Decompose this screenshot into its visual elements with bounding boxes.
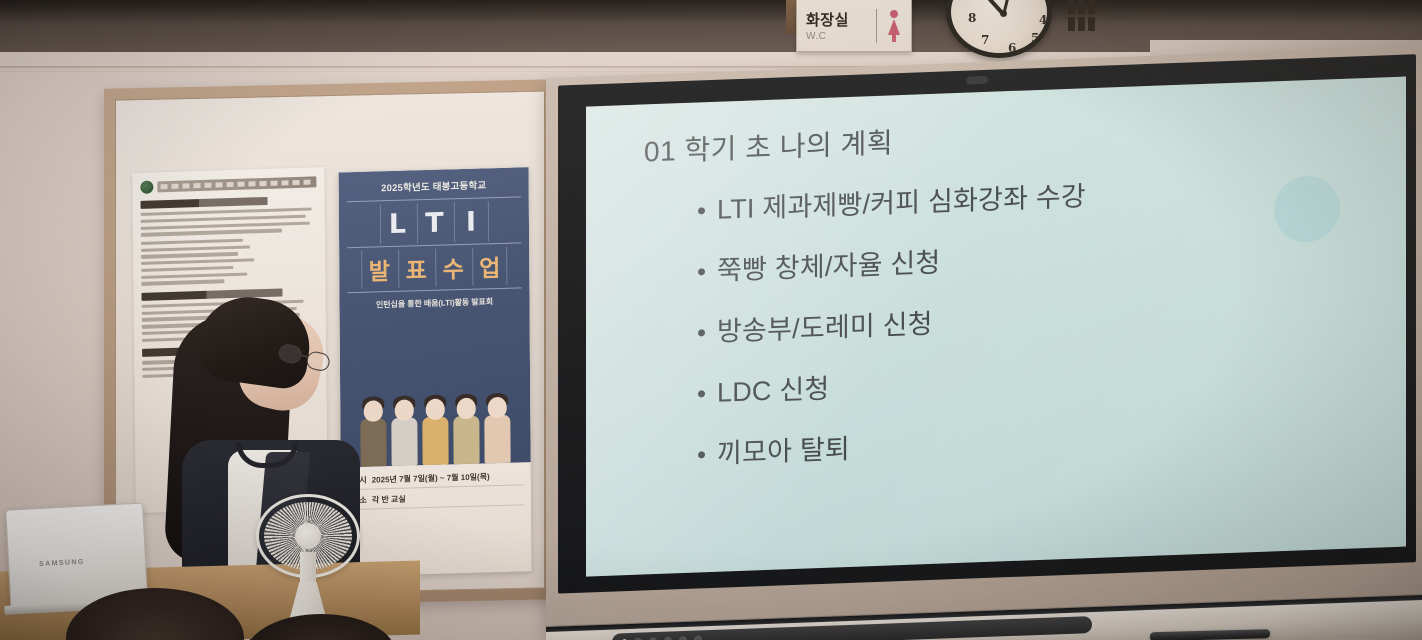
notice-section [141,195,318,285]
laptop-brand-label: SAMSUNG [39,559,85,568]
notice-header [140,175,316,194]
clock-numeral: 6 [1008,41,1016,55]
bullet-dot-icon [698,390,705,397]
poster-korean-letter: 업 [472,247,507,286]
poster-korean-letter: 발 [361,250,396,289]
clock-numeral: 7 [981,33,989,47]
restroom-sign-english-label: W.C [806,31,876,42]
poster-korean-title-row: 발 표 수 업 [347,242,521,289]
slide-bullet-item: LDC 신청 [698,353,1366,410]
bullet-dot-icon [698,207,705,214]
bullet-text: 방송부/도레미 신청 [717,308,933,349]
notice-title-bar [157,176,316,192]
clock-numeral: 4 [1039,13,1047,27]
clock-numeral: 5 [1031,31,1039,45]
fan-hub [295,523,321,549]
slide-bullet-item: LTI 제과제빵/커피 심화강좌 수강 [698,170,1366,227]
display-bezel: 01 학기 초 나의 계획 LTI 제과제빵/커피 심화강좌 수강 쭉빵 창체/… [558,54,1416,593]
poster-info-value: 2025년 7월 7일(월) ~ 7월 10일(목) [372,471,490,485]
slide-bullet-item: 끼모아 탈퇴 [698,414,1366,471]
notice-bullet-icon [140,180,153,193]
bullet-text: 끼모아 탈퇴 [717,433,850,471]
poster-letter: I [453,201,488,242]
poster-latin-title-row: L T I [347,200,521,245]
poster-title-grid: L T I 발 표 수 업 [347,196,522,293]
ceiling-vent-grille [1068,0,1114,34]
camera-bar [966,76,988,85]
slide-bullet-list: LTI 제과제빵/커피 심화강좌 수강 쭉빵 창체/자율 신청 방송부/도레미 … [698,170,1366,499]
bullet-dot-icon [698,268,705,275]
poster-letter: T [416,202,451,243]
interactive-whiteboard[interactable]: 01 학기 초 나의 계획 LTI 제과제빵/커피 심화강좌 수강 쭉빵 창체/… [546,46,1422,640]
bullet-text: LTI 제과제빵/커피 심화강좌 수강 [717,180,1086,226]
presentation-screen[interactable]: 01 학기 초 나의 계획 LTI 제과제빵/커피 심화강좌 수강 쭉빵 창체/… [586,77,1406,577]
stylus-pen[interactable] [1150,629,1270,640]
restroom-sign-korean-label: 화장실 [806,9,876,30]
control-button[interactable] [664,636,672,640]
slide-bullet-item: 방송부/도레미 신청 [698,292,1366,349]
clock-pivot [1000,10,1007,17]
control-button[interactable] [649,636,657,640]
bullet-text: LDC 신청 [717,372,829,409]
control-button[interactable] [679,635,687,640]
poster-korean-letter: 수 [435,248,470,287]
slide-bullet-item: 쭉빵 창체/자율 신청 [698,231,1366,288]
clock-numeral: 8 [968,11,976,25]
ceiling-shadow [0,0,1422,24]
poster-school-line: 2025학년도 태봉고등학교 [347,176,521,195]
slide-title: 01 학기 초 나의 계획 [644,121,893,170]
bullet-dot-icon [698,451,705,458]
control-button[interactable] [694,635,702,640]
display-wall-frame: 01 학기 초 나의 계획 LTI 제과제빵/커피 심화강좌 수강 쭉빵 창체/… [546,46,1422,638]
classroom-scene: 화장실 W.C 4 5 6 7 8 [0,0,1422,640]
poster-korean-letter: 표 [398,249,433,288]
bullet-text: 쭉빵 창체/자율 신청 [717,247,940,288]
bullet-dot-icon [698,329,705,336]
poster-letter: L [379,203,414,244]
restroom-sign: 화장실 W.C [796,0,912,52]
woman-restroom-icon [877,9,911,43]
